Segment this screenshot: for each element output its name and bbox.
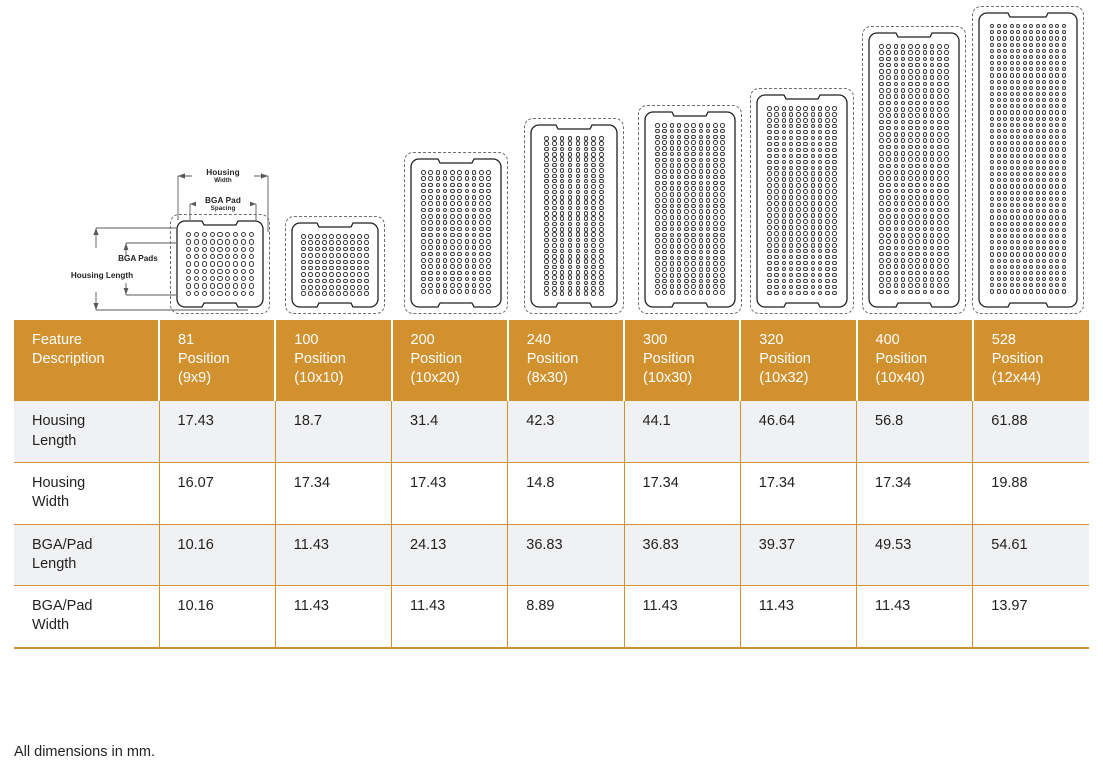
bga-pad <box>684 186 689 191</box>
bga-pad <box>720 209 725 214</box>
bga-pad <box>233 291 238 296</box>
bga-pad <box>1023 178 1027 182</box>
bga-pad <box>662 181 667 186</box>
table-header: Feature Description 81 Position (9x9) 10… <box>14 320 1089 401</box>
bga-pad <box>886 63 891 68</box>
bga-pad <box>901 246 906 251</box>
bga-pad <box>1029 110 1033 114</box>
bga-pad <box>937 195 942 200</box>
bga-pad <box>811 112 816 117</box>
bga-pad <box>1023 49 1027 53</box>
bga-pad <box>699 204 704 209</box>
bga-pad <box>713 198 718 203</box>
bga-pad <box>782 118 787 123</box>
bga-pad <box>832 106 837 111</box>
bga-pad <box>1010 49 1014 53</box>
bga-pad <box>699 284 704 289</box>
bga-pad <box>886 176 891 181</box>
bga-pad <box>364 253 369 258</box>
bga-pad <box>343 285 348 290</box>
bga-pad <box>1003 222 1007 226</box>
bga-pad <box>803 148 808 153</box>
bga-pad <box>1029 141 1033 145</box>
bga-pad <box>879 271 884 276</box>
bga-pad <box>915 201 920 206</box>
bga-pad <box>315 279 320 284</box>
bga-pad <box>568 168 573 173</box>
bga-pad <box>599 232 604 237</box>
bga-pad <box>670 152 675 157</box>
bga-pad <box>706 152 711 157</box>
bga-pad <box>923 264 928 269</box>
bga-pad <box>591 281 596 286</box>
bga-pad <box>915 195 920 200</box>
bga-pad <box>789 148 794 153</box>
bga-pad <box>691 186 696 191</box>
bga-pad <box>560 238 565 243</box>
bga-pad <box>1016 30 1020 34</box>
bga-pad <box>832 243 837 248</box>
bga-pad <box>1023 265 1027 269</box>
bga-pad <box>560 286 565 291</box>
bga-pad <box>1010 289 1014 293</box>
bga-pad <box>301 266 306 271</box>
bga-pad <box>1023 154 1027 158</box>
bga-pad <box>713 238 718 243</box>
bga-pad <box>591 190 596 195</box>
bga-pad <box>767 136 772 141</box>
bga-pad <box>591 232 596 237</box>
bga-pad <box>1029 61 1033 65</box>
bga-pad <box>1055 197 1059 201</box>
bga-pad <box>915 176 920 181</box>
bga-pad <box>421 214 426 219</box>
bga-pad <box>670 158 675 163</box>
bga-pad <box>1049 30 1053 34</box>
bga-pad <box>901 138 906 143</box>
bga-pad <box>1010 80 1014 84</box>
bga-pad <box>1036 24 1040 28</box>
bga-pad <box>544 232 549 237</box>
bga-pad <box>1055 259 1059 263</box>
bga-pad <box>825 255 830 260</box>
bga-pad <box>944 157 949 162</box>
bga-pad <box>560 147 565 152</box>
bga-pad <box>1036 271 1040 275</box>
bga-pad <box>894 157 899 162</box>
bga-pad <box>1062 86 1066 90</box>
bga-pad <box>560 206 565 211</box>
bga-pad <box>894 126 899 131</box>
bga-pad <box>1049 104 1053 108</box>
bga-pad <box>1010 61 1014 65</box>
bga-pad <box>194 291 199 296</box>
bga-pad <box>465 283 470 288</box>
bga-pad <box>1049 117 1053 121</box>
bga-pad <box>1055 203 1059 207</box>
bga-pad <box>915 252 920 257</box>
bga-pad <box>684 273 689 278</box>
bga-pad <box>421 264 426 269</box>
bga-pad <box>308 234 313 239</box>
bga-pad <box>796 142 801 147</box>
bga-pad <box>479 195 484 200</box>
bga-pad <box>944 214 949 219</box>
bga-pad <box>1062 49 1066 53</box>
bga-pad <box>1049 222 1053 226</box>
bga-pad <box>1062 104 1066 108</box>
bga-pad <box>699 250 704 255</box>
bga-pad <box>544 216 549 221</box>
bga-pad <box>832 219 837 224</box>
bga-pad <box>915 164 920 169</box>
bga-pad <box>796 213 801 218</box>
bga-pad <box>1036 104 1040 108</box>
bga-pad <box>436 239 441 244</box>
bga-pad <box>552 238 557 243</box>
bga-pad <box>915 138 920 143</box>
bga-pad <box>599 147 604 152</box>
bga-pad <box>599 227 604 232</box>
bga-pad <box>908 183 913 188</box>
bga-pad <box>706 221 711 226</box>
bga-pad <box>421 170 426 175</box>
bga-pad <box>894 252 899 257</box>
bga-pad <box>576 238 581 243</box>
bga-pad <box>1010 129 1014 133</box>
bga-pad <box>997 234 1001 238</box>
bga-pad <box>774 189 779 194</box>
bga-pad <box>450 189 455 194</box>
bga-pad <box>584 265 589 270</box>
bga-pad <box>720 250 725 255</box>
bga-pad <box>428 195 433 200</box>
bga-pad <box>684 209 689 214</box>
bga-pad <box>923 176 928 181</box>
bga-pad <box>1036 43 1040 47</box>
bga-pad <box>944 277 949 282</box>
bga-pad <box>923 164 928 169</box>
bga-pad <box>677 158 682 163</box>
row-label-bga-pad-width: BGA/Pad Width <box>14 586 159 648</box>
bga-pad <box>677 233 682 238</box>
bga-pad <box>908 290 913 295</box>
bga-pad <box>364 272 369 277</box>
bga-pad <box>782 166 787 171</box>
bga-pad <box>997 36 1001 40</box>
bga-pad <box>457 189 462 194</box>
bga-pad <box>1003 110 1007 114</box>
bga-pad <box>720 140 725 145</box>
bga-pad <box>465 289 470 294</box>
bga-pad <box>1055 265 1059 269</box>
bga-pad <box>1016 123 1020 127</box>
bga-pad <box>670 256 675 261</box>
bga-pad <box>591 136 596 141</box>
bga-pad <box>1029 277 1033 281</box>
bga-pad <box>450 170 455 175</box>
bga-pad <box>599 281 604 286</box>
bga-pad <box>336 234 341 239</box>
bga-pad <box>450 227 455 232</box>
bga-pad <box>322 285 327 290</box>
bga-pad <box>894 113 899 118</box>
cell-housing-length-200: 31.4 <box>392 401 508 462</box>
bga-pad <box>886 195 891 200</box>
bga-pad <box>465 220 470 225</box>
bga-pad <box>576 286 581 291</box>
bga-pad <box>1003 30 1007 34</box>
bga-pad <box>1055 55 1059 59</box>
bga-pad <box>879 227 884 232</box>
bga-pad <box>1036 80 1040 84</box>
cell-bga-pad-length-400: 49.53 <box>857 524 973 586</box>
bga-pad <box>811 166 816 171</box>
bga-pad <box>937 277 942 282</box>
bga-pad <box>1055 191 1059 195</box>
bga-pad <box>832 201 837 206</box>
bga-pad <box>990 222 994 226</box>
bga-pad <box>1036 209 1040 213</box>
bga-pad <box>457 271 462 276</box>
bga-pad <box>782 267 787 272</box>
bga-pad <box>767 243 772 248</box>
bga-pad <box>1029 55 1033 59</box>
bga-pad <box>479 183 484 188</box>
bga-pad <box>997 86 1001 90</box>
bga-pad <box>901 44 906 49</box>
bga-pad <box>796 291 801 296</box>
bga-pad <box>350 260 355 265</box>
bga-pad <box>677 186 682 191</box>
cell-housing-length-400: 56.8 <box>857 401 973 462</box>
bga-pad <box>915 101 920 106</box>
bga-pad <box>472 271 477 276</box>
bga-pad <box>796 219 801 224</box>
bga-pad <box>357 240 362 245</box>
bga-pad <box>767 219 772 224</box>
bga-pad <box>308 291 313 296</box>
bga-pad <box>944 50 949 55</box>
bga-pad <box>879 176 884 181</box>
bga-pad <box>1003 43 1007 47</box>
bga-pad <box>552 168 557 173</box>
bga-pad <box>825 273 830 278</box>
bga-pad <box>436 183 441 188</box>
bga-pad <box>901 195 906 200</box>
bga-pad <box>1029 67 1033 71</box>
bga-pad <box>591 216 596 221</box>
bga-pad <box>584 222 589 227</box>
bga-pad <box>879 239 884 244</box>
bga-pad <box>923 214 928 219</box>
bga-pad <box>767 171 772 176</box>
bga-pad <box>677 169 682 174</box>
bga-pad <box>825 243 830 248</box>
bga-pad <box>1029 252 1033 256</box>
bga-pad <box>457 233 462 238</box>
bga-pad <box>923 88 928 93</box>
bga-pad <box>937 183 942 188</box>
bga-pad <box>767 106 772 111</box>
bga-pad <box>997 246 1001 250</box>
bga-pad <box>789 112 794 117</box>
bga-pad <box>450 289 455 294</box>
bga-pad <box>560 232 565 237</box>
bga-pad <box>908 82 913 87</box>
row-label-housing-length: Housing Length <box>14 401 159 462</box>
bga-pad <box>1010 135 1014 139</box>
bga-pad <box>1036 36 1040 40</box>
bga-pad <box>1049 203 1053 207</box>
bga-pad <box>789 261 794 266</box>
bga-pad <box>1010 234 1014 238</box>
bga-pad <box>1036 240 1040 244</box>
bga-pad <box>584 291 589 296</box>
bga-pad <box>767 213 772 218</box>
bga-pad <box>479 283 484 288</box>
bga-pad <box>568 227 573 232</box>
bga-pad <box>818 219 823 224</box>
bga-pad <box>1003 141 1007 145</box>
bga-pad <box>818 213 823 218</box>
bga-pad <box>677 238 682 243</box>
bga-pad <box>677 181 682 186</box>
bga-pad <box>796 136 801 141</box>
bga-pad <box>322 253 327 258</box>
bga-pad <box>1023 147 1027 151</box>
bga-pad <box>194 269 199 274</box>
bga-pad <box>486 252 491 257</box>
bga-pad <box>591 291 596 296</box>
label-bga-pad-spacing: BGA Pad Spacing <box>196 197 250 212</box>
bga-pad <box>443 233 448 238</box>
bga-pad <box>803 201 808 206</box>
bga-pad <box>1003 277 1007 281</box>
bga-pad <box>1055 160 1059 164</box>
bga-pad <box>915 208 920 213</box>
bga-pad <box>670 123 675 128</box>
bga-pad <box>1010 178 1014 182</box>
bga-pad <box>1003 80 1007 84</box>
bga-pad <box>684 215 689 220</box>
bga-pad <box>1036 203 1040 207</box>
bga-pad <box>997 110 1001 114</box>
bga-pad <box>1055 86 1059 90</box>
bga-pad <box>552 232 557 237</box>
bga-pad <box>894 214 899 219</box>
bga-pad <box>699 261 704 266</box>
bga-pad <box>990 240 994 244</box>
bga-pad <box>443 264 448 269</box>
bga-pad <box>944 170 949 175</box>
bga-pad <box>465 245 470 250</box>
bga-pad <box>713 215 718 220</box>
bga-pad <box>1042 178 1046 182</box>
bga-pad <box>990 289 994 293</box>
bga-pad <box>691 163 696 168</box>
bga-pad <box>915 44 920 49</box>
column-header-400-position: 400 Position (10x40) <box>857 320 973 401</box>
bga-pad <box>1042 271 1046 275</box>
bga-pad <box>774 237 779 242</box>
bga-pad <box>886 88 891 93</box>
bga-pad <box>186 247 191 252</box>
bga-pad <box>364 266 369 271</box>
bga-pad <box>990 55 994 59</box>
bga-pad <box>552 184 557 189</box>
bga-pad <box>879 233 884 238</box>
bga-pad <box>811 160 816 165</box>
bga-pad <box>691 267 696 272</box>
bga-pad <box>699 233 704 238</box>
bga-pad <box>1036 234 1040 238</box>
bga-pad <box>576 275 581 280</box>
bga-pad <box>915 88 920 93</box>
bga-pad <box>944 201 949 206</box>
bga-pad <box>886 264 891 269</box>
bga-pad <box>450 239 455 244</box>
bga-pad <box>655 129 660 134</box>
bga-pad <box>1042 209 1046 213</box>
bga-pad <box>944 176 949 181</box>
bga-pad <box>811 124 816 129</box>
bga-pad <box>225 261 230 266</box>
bga-pad <box>796 166 801 171</box>
bga-pad <box>1010 24 1014 28</box>
bga-pad <box>782 171 787 176</box>
bga-pad <box>599 259 604 264</box>
bga-pad <box>552 152 557 157</box>
bga-pad <box>908 233 913 238</box>
bga-pad <box>789 154 794 159</box>
bga-pad <box>1003 240 1007 244</box>
bga-pad <box>450 252 455 257</box>
bga-pad-grid <box>767 106 837 295</box>
bga-pad <box>560 179 565 184</box>
bga-pad <box>1062 61 1066 65</box>
bga-pad <box>796 124 801 129</box>
bga-pad <box>241 261 246 266</box>
bga-pad <box>436 189 441 194</box>
bga-pad <box>774 177 779 182</box>
bga-pad <box>486 176 491 181</box>
bga-pad <box>315 240 320 245</box>
bga-pad <box>944 107 949 112</box>
bga-pad <box>599 238 604 243</box>
bga-pad <box>662 204 667 209</box>
bga-pad <box>1042 265 1046 269</box>
bga-pad <box>241 239 246 244</box>
bga-pad <box>782 249 787 254</box>
bga-pad <box>457 264 462 269</box>
bga-pad <box>233 239 238 244</box>
bga-pad <box>923 44 928 49</box>
bga-pad <box>706 140 711 145</box>
bga-pad <box>421 208 426 213</box>
bga-pad <box>908 220 913 225</box>
bga-pad <box>782 219 787 224</box>
bga-pad <box>443 283 448 288</box>
bga-pad <box>915 69 920 74</box>
bga-pad <box>774 225 779 230</box>
bga-pad <box>811 142 816 147</box>
bga-pad <box>886 132 891 137</box>
bga-pad <box>1055 123 1059 127</box>
bga-pad <box>879 258 884 263</box>
bga-pad <box>662 135 667 140</box>
bga-pad <box>1049 98 1053 102</box>
